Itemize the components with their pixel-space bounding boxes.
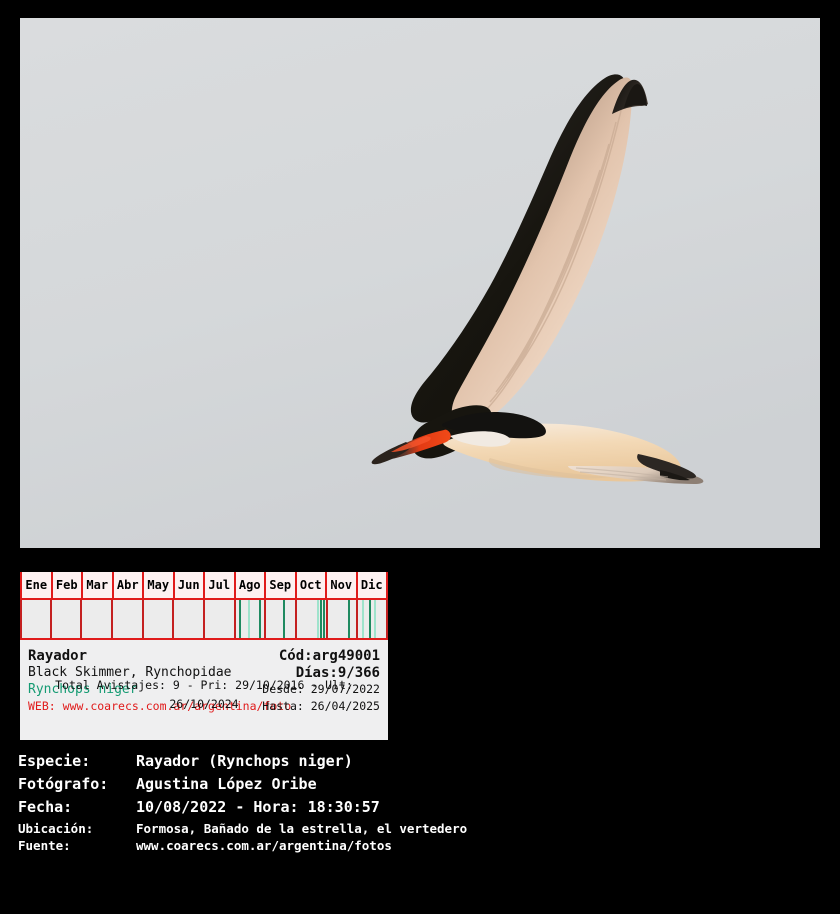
calendar-month-sep: Sep [266,572,297,598]
caption-row-especie: Especie: Rayador (Rynchops niger) [18,752,828,775]
photo-caption: Especie: Rayador (Rynchops niger) Fotógr… [18,752,828,855]
fecha-value: 10/08/2022 - Hora: 18:30:57 [136,798,380,816]
fuente-value[interactable]: www.coarecs.com.ar/argentina/fotos [136,838,392,853]
calendar-month-separator [326,600,328,638]
ubicacion-value: Formosa, Bañado de la estrella, el verte… [136,821,467,836]
calendar-month-separator [295,600,297,638]
especie-label: Especie: [18,752,90,770]
caption-row-fecha: Fecha: 10/08/2022 - Hora: 18:30:57 [18,798,828,821]
calendar-sighting-tick [283,600,285,638]
calendar-month-nov: Nov [327,572,358,598]
calendar-month-separator [142,600,144,638]
monthly-sightings-calendar: EneFebMarAbrMayJunJulAgoSepOctNovDic [20,572,388,644]
fecha-label: Fecha: [18,798,72,816]
calendar-month-feb: Feb [53,572,84,598]
calendar-sighting-tick [362,600,364,638]
calendar-month-separator [20,600,22,638]
code-value: Cód:arg49001 [279,648,380,664]
calendar-month-dic: Dic [358,572,389,598]
fotografo-value: Agustina López Oribe [136,775,317,793]
calendar-month-separator [356,600,358,638]
common-name: Rayador [28,648,87,664]
calendar-month-jul: Jul [205,572,236,598]
calendar-sighting-tick [248,600,250,638]
calendar-month-separator [111,600,113,638]
info-row-name: Rayador Cód:arg49001 [26,648,382,665]
calendar-month-may: May [144,572,175,598]
calendar-month-separator [172,600,174,638]
total-sightings-line: Total Avistajes: 9 - Pri: 29/10/2016 - U… [20,674,388,712]
caption-row-fuente: Fuente: www.coarecs.com.ar/argentina/fot… [18,838,828,855]
calendar-sightings-body [20,600,388,640]
total-sightings-text: Total Avistajes: 9 - Pri: 29/10/2016 - U… [55,678,353,711]
calendar-month-ago: Ago [236,572,267,598]
calendar-sighting-tick [323,600,325,638]
calendar-month-jun: Jun [175,572,206,598]
calendar-month-header: EneFebMarAbrMayJunJulAgoSepOctNovDic [20,572,388,600]
calendar-month-oct: Oct [297,572,328,598]
calendar-month-separator [264,600,266,638]
caption-row-ubicacion: Ubicación: Formosa, Bañado de la estrell… [18,821,828,838]
bird-photo [20,18,820,548]
calendar-sighting-tick [320,600,322,638]
screenshot-root: EneFebMarAbrMayJunJulAgoSepOctNovDic Ray… [0,0,840,854]
fotografo-label: Fotógrafo: [18,775,108,793]
calendar-sighting-tick [369,600,371,638]
ubicacion-label: Ubicación: [18,821,93,836]
calendar-month-separator [80,600,82,638]
calendar-sighting-tick [348,600,350,638]
caption-row-fotografo: Fotógrafo: Agustina López Oribe [18,775,828,798]
calendar-month-separator [203,600,205,638]
calendar-month-separator [234,600,236,638]
bird-illustration [20,18,820,548]
fuente-label: Fuente: [18,838,71,853]
calendar-sighting-tick [374,600,376,638]
especie-value: Rayador (Rynchops niger) [136,752,353,770]
calendar-month-ene: Ene [20,572,53,598]
calendar-month-mar: Mar [83,572,114,598]
calendar-month-abr: Abr [114,572,145,598]
calendar-month-separator [386,600,388,638]
calendar-sighting-tick [259,600,261,638]
species-info-panel: EneFebMarAbrMayJunJulAgoSepOctNovDic Ray… [18,570,390,742]
calendar-month-separator [50,600,52,638]
species-info-text: Rayador Cód:arg49001 Black Skimmer, Rync… [20,644,388,716]
calendar-sighting-tick [239,600,241,638]
